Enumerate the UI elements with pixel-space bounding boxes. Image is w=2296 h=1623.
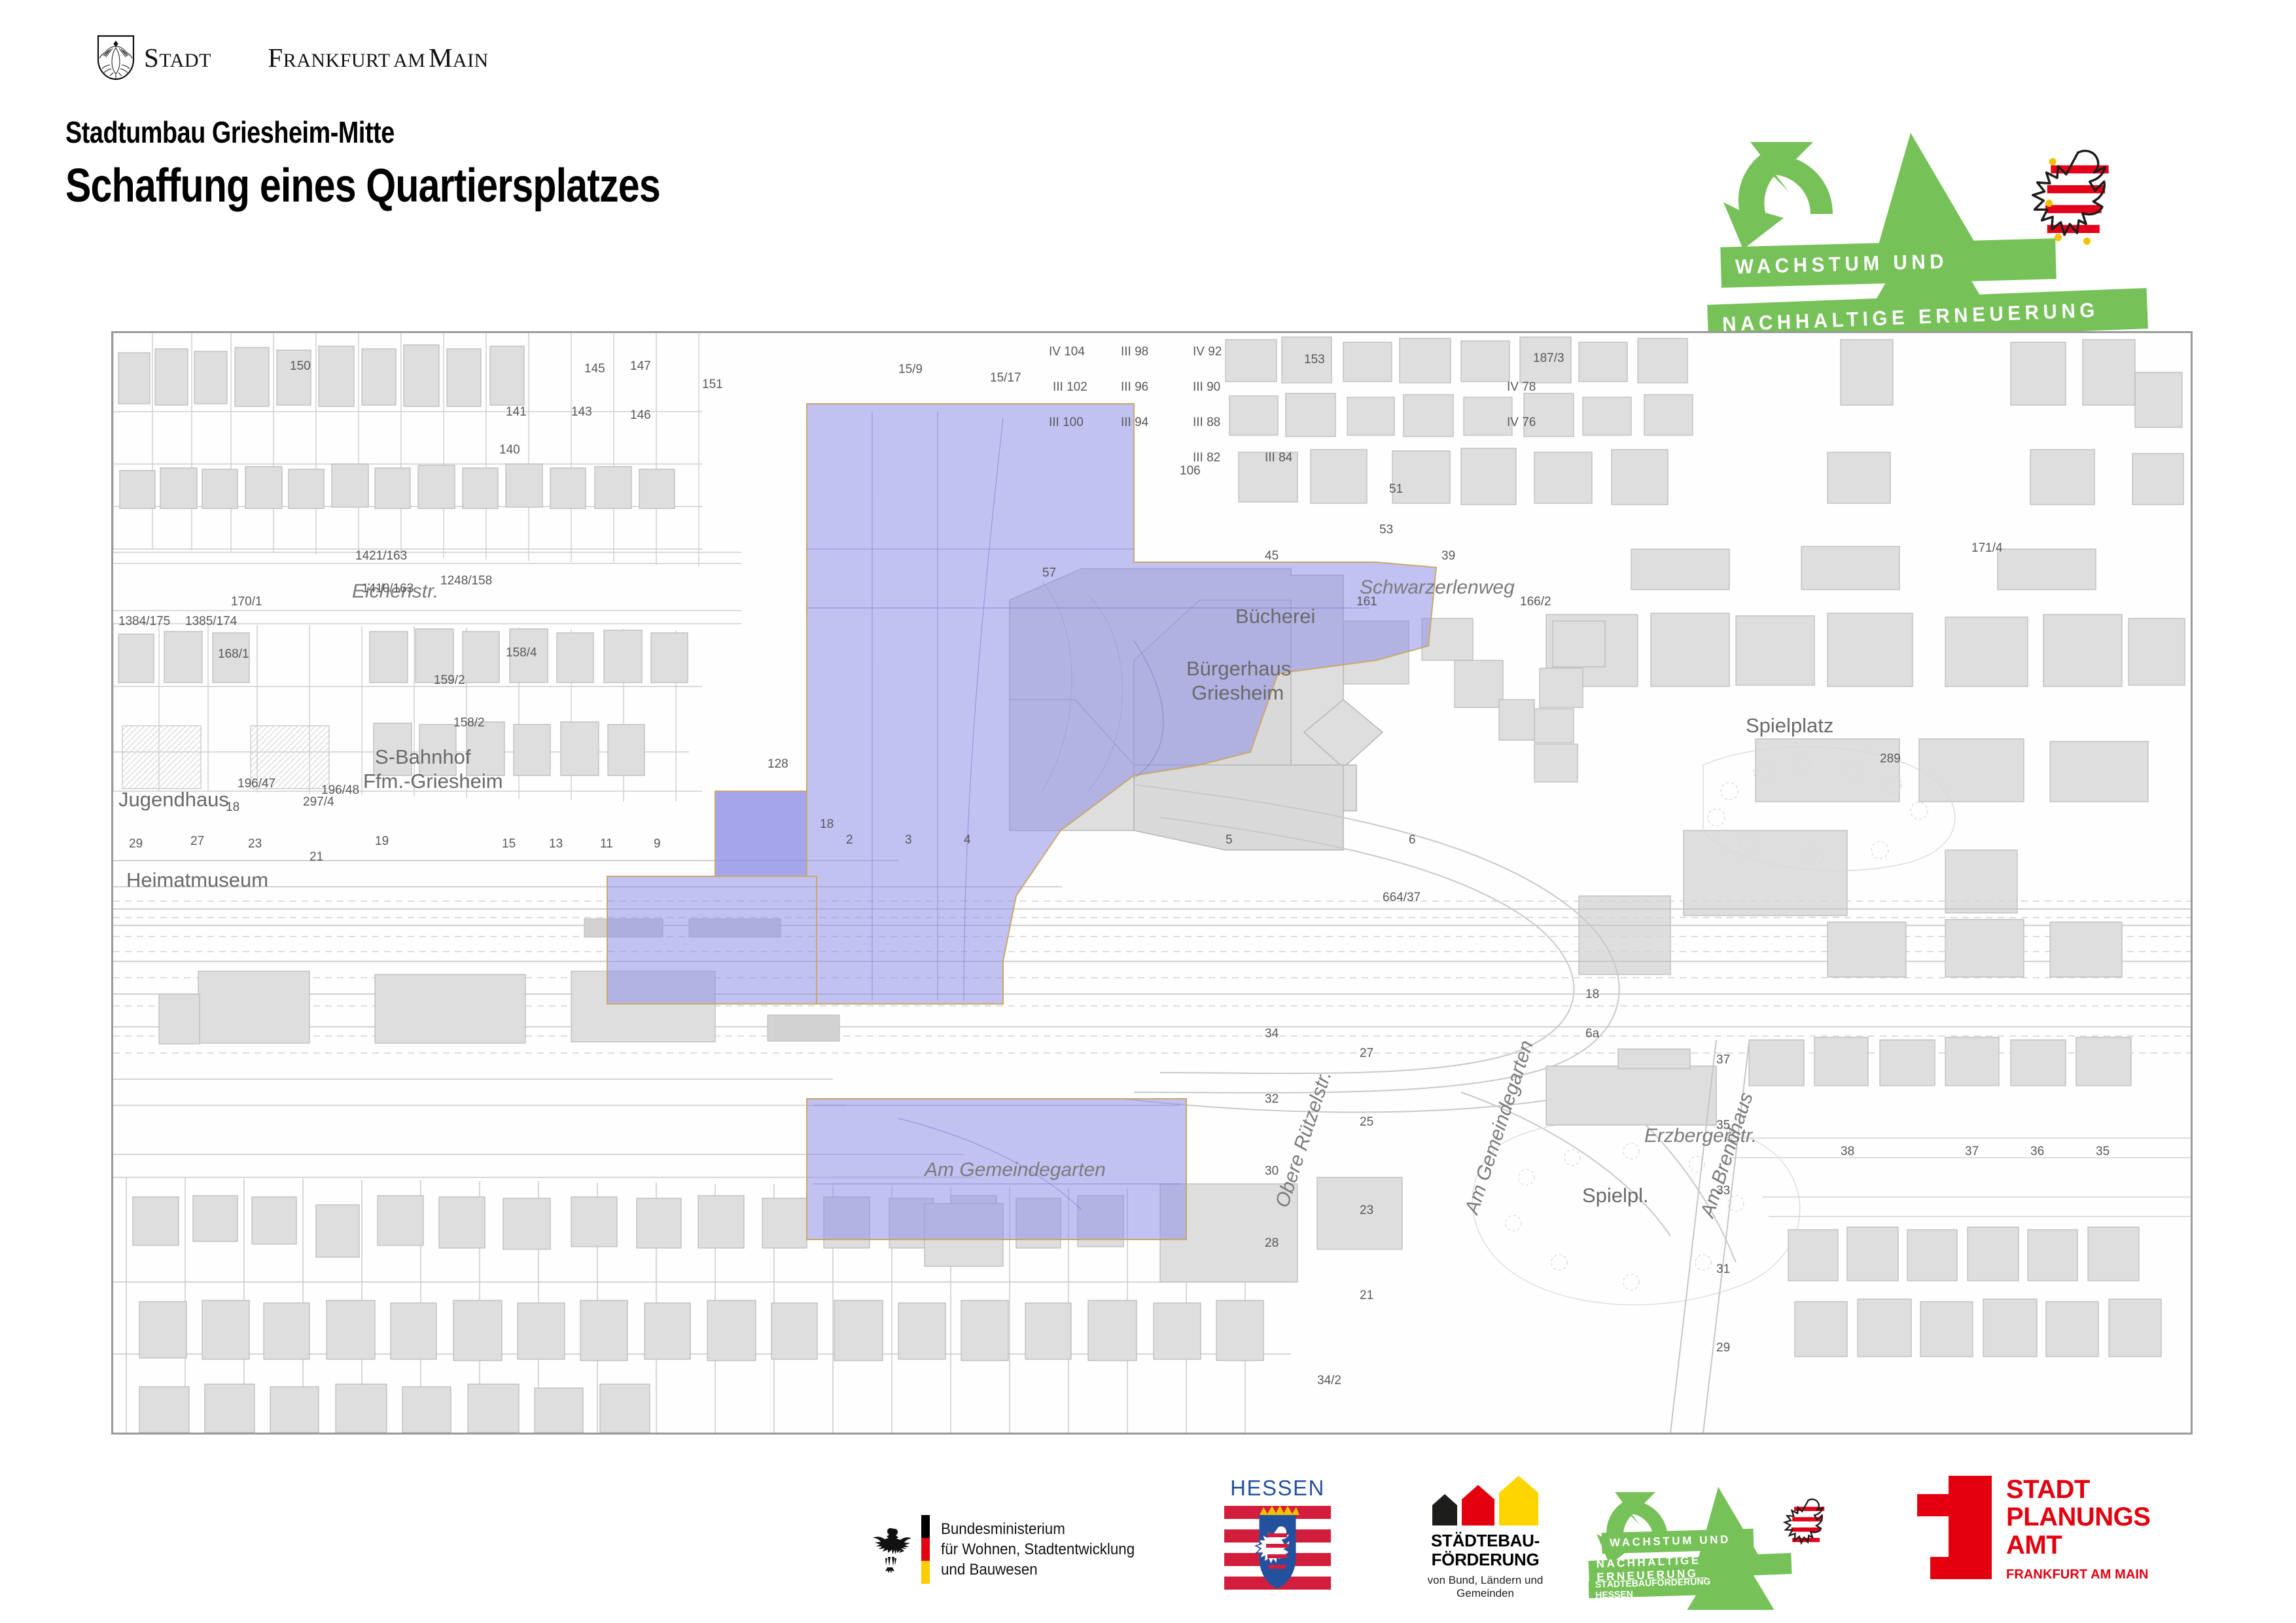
street-label-schwarzerlenweg: Schwarzerlenweg — [1360, 577, 1515, 599]
house-number: 53 — [1379, 523, 1393, 537]
house-number: 171/4 — [1971, 541, 2003, 556]
bmwsb-line2: für Wohnen, Stadtentwicklung — [941, 1539, 1135, 1560]
house-number: 153 — [1304, 353, 1325, 367]
stbf-line2: FÖRDERUNG — [1404, 1550, 1567, 1569]
house-number: 5 — [1226, 833, 1233, 847]
house-number: 4 — [964, 833, 971, 847]
house-number: III 98 — [1121, 345, 1148, 359]
house-number: 1421/163 — [355, 549, 407, 563]
poi-spielpl: Spielpl. — [1582, 1184, 1649, 1207]
house-number: 11 — [600, 837, 613, 851]
house-number: 1410/163 — [362, 582, 414, 596]
house-number: 18 — [1585, 988, 1599, 1002]
stadtplanungsamt-logo: STADT PLANUNGS AMT FRANKFURT AM MAIN — [1917, 1476, 2218, 1623]
map-drawing — [113, 333, 2191, 1433]
house-number: 35 — [2096, 1145, 2110, 1159]
house-number: 151 — [702, 378, 723, 392]
spa-line2: PLANUNGS — [2006, 1503, 2150, 1531]
house-number: 161 — [1356, 595, 1377, 609]
house-number: 1385/174 — [185, 615, 237, 629]
house-number: 15/9 — [898, 363, 923, 377]
house-number: 166/2 — [1520, 595, 1551, 609]
house-number: 39 — [1441, 549, 1455, 563]
poi-buergerhaus-griesheim: Griesheim — [1192, 681, 1284, 705]
house-number: 27 — [190, 834, 204, 849]
house-number: 21 — [309, 850, 323, 865]
house-number: 18 — [226, 800, 239, 815]
house-number: 45 — [1265, 549, 1279, 563]
house-number: 18 — [820, 817, 834, 832]
house-number: 289 — [1880, 752, 1901, 766]
house-number: 9 — [654, 837, 661, 851]
house-number: 23 — [248, 837, 262, 851]
house-number: 159/2 — [434, 673, 465, 688]
poi-ffm-griesheim: Ffm.-Griesheim — [363, 770, 503, 793]
wachstum-logo-small: WACHSTUM UND NACHHALTIGE ERNEUERUNG STÄD… — [1590, 1476, 1865, 1623]
house-number: 168/1 — [218, 647, 249, 662]
hessen-logo: HESSEN — [1220, 1476, 1335, 1623]
poi-spielplatz: Spielplatz — [1746, 714, 1833, 738]
house-number: 51 — [1389, 482, 1403, 497]
house-number: 13 — [549, 837, 563, 851]
house-number: 2 — [846, 833, 853, 847]
house-number: 3 — [905, 833, 912, 847]
city-logo-wordmark: SStadtTADT FRANKFURT AM MAIN — [144, 42, 489, 73]
house-number: 32 — [1265, 1092, 1279, 1107]
house-number: 31 — [1716, 1262, 1730, 1277]
house-number: 38 — [1841, 1145, 1854, 1159]
poi-buecherei: Bücherei — [1235, 605, 1315, 628]
poi-buergerhaus: Bürgerhaus — [1186, 657, 1291, 681]
house-number: 25 — [1360, 1115, 1373, 1130]
house-number: 146 — [630, 408, 651, 423]
house-number: 147 — [630, 359, 651, 374]
house-number: 35 — [1716, 1118, 1730, 1133]
house-number: 158/2 — [453, 716, 485, 730]
house-number: 29 — [129, 837, 143, 851]
stbf-line4: Gemeinden — [1404, 1587, 1567, 1600]
hessen-label: HESSEN — [1220, 1476, 1335, 1501]
house-number: IV 92 — [1193, 345, 1222, 359]
frankfurt-eagle-shield-icon — [97, 35, 135, 80]
house-number: 1384/175 — [118, 615, 170, 629]
house-number: IV 78 — [1507, 380, 1536, 395]
hessen-lion-icon — [1785, 1499, 1824, 1543]
house-number: III 94 — [1121, 416, 1148, 430]
house-number: 28 — [1265, 1236, 1279, 1251]
house-number: 37 — [1716, 1053, 1730, 1067]
city-logo: SStadtTADT FRANKFURT AM MAIN — [97, 35, 516, 80]
house-number: III 90 — [1193, 380, 1220, 395]
house-number: III 84 — [1265, 451, 1292, 465]
house-number: 196/47 — [238, 777, 275, 791]
title-block: Stadtumbau Griesheim-Mitte Schaffung ein… — [65, 115, 790, 213]
spa-line1: STADT — [2006, 1476, 2150, 1503]
house-number: 196/48 — [321, 783, 359, 798]
house-number: 29 — [1716, 1341, 1730, 1355]
house-number: 23 — [1360, 1204, 1373, 1218]
spa-sub: FRANKFURT AM MAIN — [2006, 1567, 2150, 1582]
house-number: III 102 — [1053, 380, 1087, 395]
house-number: 34/2 — [1317, 1374, 1341, 1388]
house-number: 106 — [1180, 464, 1201, 478]
house-number: 150 — [290, 359, 311, 374]
house-number: 37 — [1965, 1145, 1979, 1159]
house-number: 19 — [375, 834, 389, 849]
house-number: 158/4 — [506, 646, 537, 660]
hessen-lion-icon — [2033, 151, 2109, 245]
house-number: 128 — [768, 757, 788, 772]
poi-jugendhaus: Jugendhaus — [118, 788, 229, 811]
wachstum-small-line3: STÄDTEBAUFÖRDERUNG HESSEN — [1589, 1577, 1739, 1598]
stbf-line1: STÄDTEBAU- — [1404, 1531, 1567, 1550]
staedtebaufoerderung-logo: STÄDTEBAU- FÖRDERUNG von Bund, Ländern u… — [1404, 1476, 1567, 1623]
house-number: 187/3 — [1533, 351, 1564, 366]
page-title: Schaffung eines Quartiersplatzes — [65, 159, 660, 213]
bmwsb-text: Bundesministerium für Wohnen, Stadtentwi… — [941, 1519, 1135, 1580]
house-number: III 100 — [1049, 416, 1084, 430]
house-number: 170/1 — [231, 595, 262, 609]
stadtplanungsamt-block-mark — [1917, 1476, 1992, 1579]
spa-line3: AMT — [2006, 1531, 2150, 1559]
house-number: 6 — [1409, 833, 1416, 847]
house-number: 57 — [1042, 566, 1056, 580]
house-number: III 82 — [1193, 451, 1220, 465]
recycling-arrow-icon — [1597, 1492, 1668, 1565]
house-number: IV 104 — [1049, 345, 1085, 359]
recycling-arrow-icon — [1723, 141, 1833, 249]
house-number: 141 — [506, 405, 527, 419]
house-number: IV 76 — [1507, 416, 1536, 430]
page-subtitle: Stadtumbau Griesheim-Mitte — [65, 115, 660, 150]
poi-s-bahnhof: S-Bahnhof — [375, 745, 471, 769]
stbf-line3: von Bund, Ländern und — [1404, 1574, 1567, 1587]
bmwsb-logo: Bundesministerium für Wohnen, Stadtentwi… — [870, 1476, 1178, 1623]
cadastral-map[interactable]: Eichenstr. Schwarzerlenweg Erzbergerstr.… — [111, 331, 2193, 1435]
bmwsb-line1: Bundesministerium — [941, 1519, 1135, 1539]
poi-heimatmuseum: Heimatmuseum — [126, 868, 268, 892]
bundesadler-icon — [870, 1525, 911, 1574]
house-number: 21 — [1360, 1289, 1373, 1303]
house-number: 1248/158 — [440, 574, 492, 588]
house-number: 6a — [1585, 1027, 1599, 1041]
house-number: 33 — [1716, 1184, 1730, 1198]
house-number: 30 — [1265, 1164, 1279, 1179]
street-label-am-gemeindegarten: Am Gemeindegarten — [925, 1159, 1106, 1181]
house-number: 27 — [1360, 1046, 1373, 1061]
footer-logo-strip: Bundesministerium für Wohnen, Stadtentwi… — [0, 1476, 2296, 1623]
house-number: III 96 — [1121, 380, 1148, 395]
three-houses-icon — [1404, 1476, 1567, 1525]
hessen-flag-lion-icon — [1220, 1501, 1335, 1599]
house-number: 36 — [2030, 1145, 2044, 1159]
house-number: 34 — [1265, 1027, 1279, 1041]
wachstum-small-line1: WACHSTUM UND — [1602, 1529, 1754, 1554]
german-flag-bar — [921, 1515, 930, 1584]
house-number: 145 — [584, 362, 605, 376]
house-number: III 88 — [1193, 416, 1220, 430]
bmwsb-line3: und Bauwesen — [941, 1560, 1135, 1580]
house-number: 143 — [571, 405, 592, 419]
house-number: 140 — [499, 443, 520, 457]
house-number: 664/37 — [1383, 891, 1421, 905]
house-number: 15 — [502, 837, 516, 851]
house-number: 15/17 — [990, 371, 1021, 385]
